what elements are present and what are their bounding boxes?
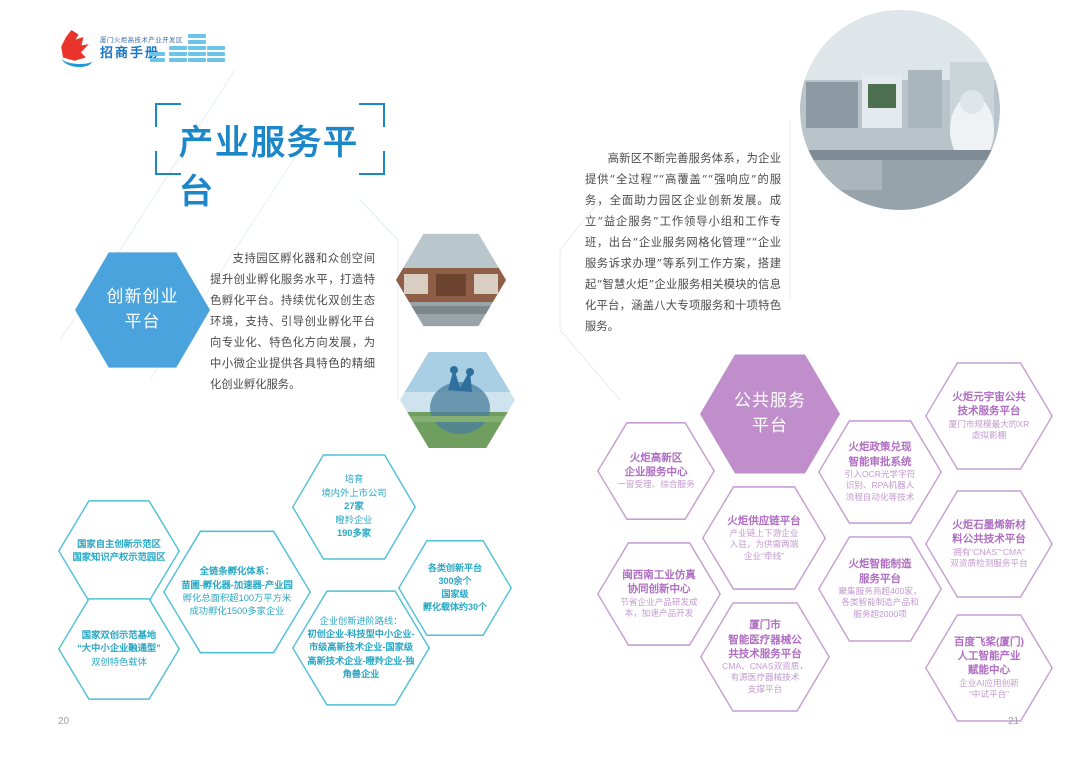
cleanroom-lab-photo [800, 10, 1000, 210]
bracket-bottom-left-icon [155, 151, 181, 175]
hex-lines-1: 国家双创示范基地“大中小企业融通型”双创特色载体 [65, 629, 173, 669]
rhex-4: 火炬政策兑现智能审批系统引入OCR光学字符识别、RPA机器人流程自动化等技术 [833, 440, 928, 503]
hex-xiamen-smart-medical-device-platform: 厦门市智能医疗器械公共技术服务平台CMA、CNAS双资质，有源医疗器械技术支撑平… [700, 600, 830, 714]
hex-label-right-main: 公共服务 平台 [722, 389, 818, 438]
brochure-page: 厦门火炬高技术产业开发区 招商手册 产业服务平台 创新创业 平台 支持园区孵化器… [0, 0, 1080, 759]
page-title-text: 产业服务平台 [179, 115, 385, 213]
hex-torch-policy-approval-system: 火炬政策兑现智能审批系统引入OCR光学字符识别、RPA机器人流程自动化等技术 [818, 418, 942, 526]
hex-lines-0: 国家自主创新示范区国家知识产权示范园区 [61, 538, 178, 565]
page-number-right: 21 [1008, 716, 1019, 727]
bracket-top-left-icon [155, 103, 181, 127]
hex-torch-smart-manufacturing-platform: 火炬智能制造服务平台聚集服务商超400家，各类智能制造产品和服务超2000项 [818, 534, 942, 644]
hex-national-dual-innovation-base: 国家双创示范基地“大中小企业融通型”双创特色载体 [58, 596, 180, 702]
hex-torch-graphene-materials-platform: 火炬石墨烯新材料公共技术平台拥有“CNAS”“CMA”双资质检测服务平台 [925, 488, 1053, 600]
equalizer-bars-icon [150, 34, 228, 68]
rhex-3: 厦门市智能医疗器械公共技术服务平台CMA、CNAS双资质，有源医疗器械技术支撑平… [710, 618, 820, 695]
rhex-1: 闽西南工业仿真协同创新中心节省企业产品研发成本，加速产品开发 [608, 568, 709, 620]
hex-baidu-paddle-ai-center: 百度飞桨(厦门)人工智能产业赋能中心企业AI应用创新“中试平台” [925, 612, 1053, 724]
rhex-0: 火炬高新区企业服务中心一窗受理、综合服务 [605, 451, 706, 491]
rhex-2: 火炬供应链平台产业链上下游企业入驻，为供需两端企业“牵线” [715, 514, 813, 563]
hex-innovation-entrepreneurship-platform: 创新创业 平台 [75, 250, 210, 370]
hex-torch-supply-chain-platform: 火炬供应链平台产业链上下游企业入驻，为供需两端企业“牵线” [702, 484, 826, 592]
hex-national-innovation-demo-zone: 国家自主创新示范区国家知识产权示范园区 [58, 498, 180, 604]
torch-flame-icon [60, 30, 94, 66]
page-number-left: 20 [58, 716, 69, 727]
rhex-6: 火炬元宇宙公共技术服务平台厦门市规模最大的XR虚拟影棚 [937, 390, 1042, 442]
hex-enterprise-innovation-path: 企业创新进阶路线：初创企业-科技型中小企业-市级高新技术企业-国家级高新技术企业… [292, 588, 430, 708]
hex-torch-enterprise-service-center: 火炬高新区企业服务中心一窗受理、综合服务 [597, 420, 715, 522]
hex-label-left-main: 创新创业 平台 [95, 285, 191, 334]
hex-lines-5: 企业创新进阶路线：初创企业-科技型中小企业-市级高新技术企业-国家级高新技术企业… [303, 615, 418, 682]
hex-lines-3: 培育境内外上市公司27家瞪羚企业190多家 [309, 473, 398, 540]
hex-torch-metaverse-platform: 火炬元宇宙公共技术服务平台厦门市规模最大的XR虚拟影棚 [925, 360, 1053, 472]
hex-lines-2: 全链条孵化体系：苗圃-孵化器-加速器-产业园孵化总面积超100万平方米成功孵化1… [175, 565, 299, 619]
rhex-5: 火炬智能制造服务平台聚集服务商超400家，各类智能制造产品和服务超2000项 [826, 557, 933, 620]
hex-lines-4: 各类创新平台300余个国家级孵化载体约30个 [411, 562, 499, 614]
rhex-8: 百度飞桨(厦门)人工智能产业赋能中心企业AI应用创新“中试平台” [942, 635, 1036, 701]
rhex-7: 火炬石墨烯新材料公共技术平台拥有“CNAS”“CMA”双资质检测服务平台 [938, 518, 1039, 570]
left-paragraph: 支持园区孵化器和众创空间提升创业孵化服务水平，打造特色孵化平台。持续优化双创生态… [210, 248, 375, 395]
page-title: 产业服务平台 [155, 103, 385, 175]
hex-full-chain-incubation-system: 全链条孵化体系：苗圃-孵化器-加速器-产业园孵化总面积超100万平方米成功孵化1… [163, 528, 311, 656]
right-paragraph: 高新区不断完善服务体系，为企业提供“全过程”“高覆盖”“强响应”的服务，全面助力… [585, 148, 781, 337]
